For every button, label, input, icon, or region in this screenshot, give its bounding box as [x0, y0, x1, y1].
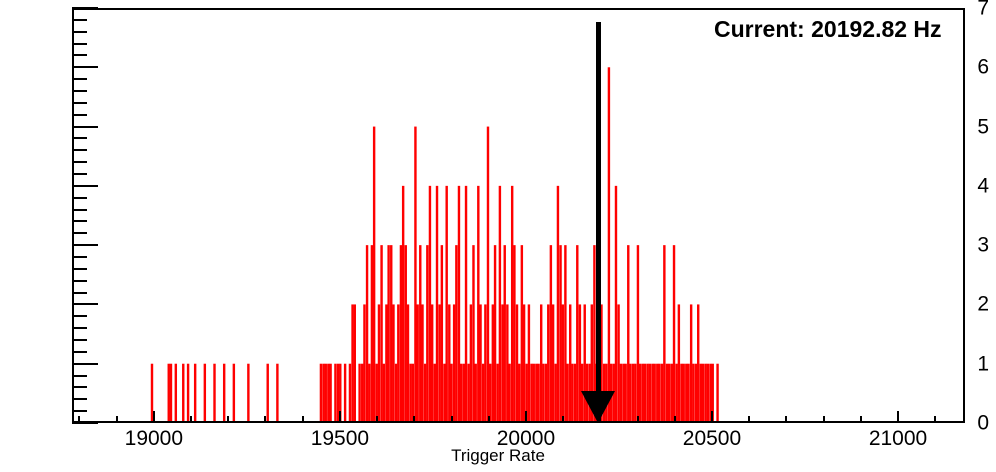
histogram-bar [651, 364, 653, 421]
y-axis-tick-label: 0 [931, 413, 996, 434]
x-axis-tick-major [339, 411, 341, 423]
histogram-bar [644, 364, 646, 421]
histogram-bar [682, 364, 684, 421]
histogram-bar [453, 304, 455, 421]
current-value-label: Current: 20192.82 Hz [714, 16, 942, 42]
histogram-bar [445, 186, 447, 421]
histogram-bar [508, 364, 510, 421]
histogram-bar [537, 364, 539, 421]
histogram-bar [516, 304, 518, 421]
histogram-bar [175, 364, 177, 421]
histogram-bar [501, 304, 503, 421]
histogram-bar [511, 186, 513, 421]
histogram-bar [484, 304, 486, 421]
y-axis-tick-label: 2 [931, 294, 996, 315]
histogram-bar [554, 364, 556, 421]
histogram-bar [547, 304, 549, 421]
histogram-bar [233, 364, 235, 421]
histogram-bar [687, 364, 689, 421]
x-axis-tick-minor [637, 416, 639, 423]
histogram-bar [194, 364, 196, 421]
histogram-bar [562, 304, 564, 421]
histogram-bar [429, 186, 431, 421]
x-axis-tick-minor [860, 416, 862, 423]
histogram-bar [431, 304, 433, 421]
histogram-bar [557, 186, 559, 421]
x-axis-tick-minor [264, 416, 266, 423]
histogram-bar [409, 364, 411, 421]
histogram-bar [267, 364, 269, 421]
y-axis-tick-label: 3 [931, 235, 996, 256]
histogram-bar [373, 127, 375, 421]
histogram-bar [187, 364, 189, 421]
histogram-bar [395, 364, 397, 421]
x-axis-tick-minor [227, 416, 229, 423]
histogram-bar [434, 364, 436, 421]
histogram-bar [671, 364, 673, 421]
histogram-bar [533, 364, 535, 421]
histogram-bar [424, 364, 426, 421]
histogram-bar [559, 245, 561, 421]
histogram-bar [455, 245, 457, 421]
histogram-bar [627, 245, 629, 421]
histogram-bar [467, 364, 469, 421]
histogram-bar [700, 364, 702, 421]
x-axis-tick-minor [823, 416, 825, 423]
x-axis-tick-major [525, 411, 527, 423]
histogram-bar [441, 245, 443, 421]
histogram-bar [426, 245, 428, 421]
histogram-bar [716, 364, 718, 421]
histogram-bar [361, 364, 363, 421]
histogram-bar [392, 304, 394, 421]
histogram-bar [354, 304, 356, 421]
histogram-bar [685, 364, 687, 421]
histogram-bar [470, 304, 472, 421]
histogram-bar [653, 364, 655, 421]
histogram-bar [387, 245, 389, 421]
histogram-bar [475, 364, 477, 421]
x-axis-tick-minor [451, 416, 453, 423]
histogram-bar [656, 364, 658, 421]
histogram-bar [528, 304, 530, 421]
histogram-bar [363, 304, 365, 421]
histogram-bar [407, 304, 409, 421]
histogram-bar [658, 364, 660, 421]
histogram-bar [566, 364, 568, 421]
histogram-bar [680, 364, 682, 421]
histogram-bar [530, 364, 532, 421]
histogram-bar [535, 364, 537, 421]
histogram-bar [204, 364, 206, 421]
y-axis-tick-label: 6 [931, 57, 996, 78]
histogram-bar [380, 245, 382, 421]
histogram-bar [518, 364, 520, 421]
histogram-bar [615, 186, 617, 421]
histogram-bar [540, 304, 542, 421]
x-axis-tick-minor [190, 416, 192, 423]
histogram-bar [334, 364, 336, 421]
histogram-bar [492, 304, 494, 421]
histogram-bar [376, 364, 378, 421]
histogram-bars [74, 10, 963, 421]
histogram-bar [247, 364, 249, 421]
histogram-bar [571, 364, 573, 421]
histogram-bar [702, 364, 704, 421]
histogram-bar [378, 304, 380, 421]
histogram-bar [479, 304, 481, 421]
histogram-bar [569, 304, 571, 421]
histogram-bar [576, 245, 578, 421]
histogram-bar [545, 364, 547, 421]
histogram-bar [419, 245, 421, 421]
histogram-bar [383, 364, 385, 421]
histogram-bar [690, 304, 692, 421]
histogram-bar [368, 364, 370, 421]
histogram-bar [494, 245, 496, 421]
histogram-bar [637, 245, 639, 421]
histogram-bar [661, 364, 663, 421]
histogram-bar [504, 245, 506, 421]
histogram-bar [649, 364, 651, 421]
x-axis-tick-minor [562, 416, 564, 423]
histogram-canvas: 01234567 1900019500200002050021000 Trigg… [0, 0, 996, 472]
histogram-bar [463, 364, 465, 421]
x-axis-tick-major [897, 411, 899, 423]
histogram-bar [436, 186, 438, 421]
histogram-bar [574, 364, 576, 421]
histogram-bar [168, 364, 170, 421]
histogram-bar [213, 364, 215, 421]
histogram-bar [550, 245, 552, 421]
histogram-bar [521, 245, 523, 421]
histogram-bar [322, 364, 324, 421]
histogram-bar [552, 304, 554, 421]
histogram-bar [170, 364, 172, 421]
histogram-bar [489, 364, 491, 421]
histogram-bar [622, 364, 624, 421]
y-axis-tick-label: 4 [931, 175, 996, 196]
histogram-bar [678, 304, 680, 421]
histogram-bar [620, 364, 622, 421]
x-axis-tick-minor [78, 416, 80, 423]
histogram-bar [704, 364, 706, 421]
histogram-bar [443, 364, 445, 421]
x-axis-tick-minor [934, 416, 936, 423]
histogram-bar [668, 364, 670, 421]
histogram-bar [448, 304, 450, 421]
histogram-bar [608, 67, 610, 421]
x-axis-tick-minor [488, 416, 490, 423]
x-axis-tick-minor [748, 416, 750, 423]
x-axis-title: Trigger Rate [0, 446, 996, 466]
histogram-bar [416, 304, 418, 421]
histogram-bar [327, 364, 329, 421]
histogram-bar [646, 364, 648, 421]
histogram-bar [412, 364, 414, 421]
histogram-bar [366, 245, 368, 421]
histogram-bar [458, 186, 460, 421]
marker-arrowhead-icon [581, 391, 615, 423]
histogram-bar [639, 364, 641, 421]
histogram-bar [513, 245, 515, 421]
histogram-bar [414, 127, 416, 421]
x-axis-tick-minor [785, 416, 787, 423]
histogram-bar [697, 304, 699, 421]
histogram-bar [320, 364, 322, 421]
histogram-bar [632, 364, 634, 421]
histogram-bar [673, 245, 675, 421]
histogram-bar [707, 364, 709, 421]
histogram-bar [624, 364, 626, 421]
y-axis-tick-label: 1 [931, 353, 996, 374]
histogram-bar [499, 186, 501, 421]
x-axis-tick-minor [116, 416, 118, 423]
histogram-bar [482, 364, 484, 421]
histogram-bar [477, 186, 479, 421]
histogram-bar [325, 364, 327, 421]
histogram-bar [344, 364, 346, 421]
x-axis-tick-minor [376, 416, 378, 423]
histogram-bar [371, 245, 373, 421]
histogram-bar [666, 364, 668, 421]
histogram-bar [472, 245, 474, 421]
histogram-bar [487, 127, 489, 421]
x-axis-tick-minor [413, 416, 415, 423]
histogram-bar [223, 364, 225, 421]
histogram-bar [349, 364, 351, 421]
histogram-bar [675, 364, 677, 421]
histogram-bar [182, 364, 184, 421]
histogram-bar [276, 364, 278, 421]
x-axis-tick-minor [302, 416, 304, 423]
histogram-bar [358, 364, 360, 421]
histogram-bar [405, 245, 407, 421]
histogram-bar [460, 364, 462, 421]
marker-shaft [596, 22, 601, 397]
histogram-bar [450, 364, 452, 421]
histogram-bar [351, 304, 353, 421]
histogram-bar [385, 304, 387, 421]
x-axis-tick-major [153, 411, 155, 423]
histogram-bar [390, 245, 392, 421]
histogram-bar [400, 245, 402, 421]
histogram-bar [542, 364, 544, 421]
histogram-bar [402, 186, 404, 421]
histogram-bar [496, 364, 498, 421]
histogram-bar [421, 304, 423, 421]
histogram-bar [523, 304, 525, 421]
histogram-bar [634, 364, 636, 421]
histogram-bar [564, 245, 566, 421]
histogram-bar [642, 364, 644, 421]
histogram-bar [692, 364, 694, 421]
x-axis-tick-major [711, 411, 713, 423]
x-axis-tick-minor [674, 416, 676, 423]
histogram-bar [397, 304, 399, 421]
histogram-bar [506, 304, 508, 421]
histogram-bar [438, 304, 440, 421]
histogram-bar [695, 364, 697, 421]
y-axis-tick-label: 5 [931, 116, 996, 137]
histogram-bar [465, 186, 467, 421]
histogram-bar [663, 245, 665, 421]
histogram-bar [329, 364, 331, 421]
histogram-bar [629, 364, 631, 421]
histogram-series [74, 10, 963, 421]
histogram-bar [617, 304, 619, 421]
